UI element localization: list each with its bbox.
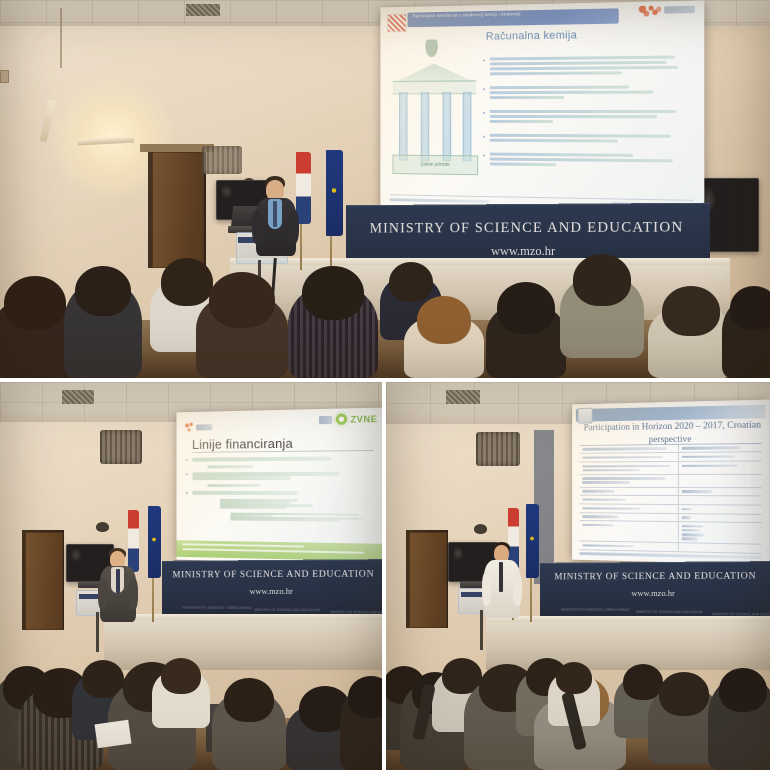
zvne-ring-icon	[335, 413, 347, 426]
slide-footer-bar	[176, 541, 382, 562]
slide-bullet	[192, 472, 373, 481]
presenter-arm	[288, 210, 299, 244]
slide-bullet	[483, 55, 681, 75]
collage-panel-top: Računalna simulacija u modernoj kemiji i…	[0, 0, 770, 378]
stage-platform	[104, 618, 382, 670]
stage-platform	[486, 620, 770, 670]
presenter-tie	[499, 562, 503, 592]
temple-diagram: Zakon prirode	[393, 38, 477, 183]
collage-panel-bottom-left: ZVNE Linije financiranja	[0, 382, 382, 770]
stage-edge	[104, 614, 382, 620]
mzo-wordmark-icon	[638, 3, 696, 19]
mzo-dots-icon	[638, 6, 661, 17]
lecture-hall-bottom-left: ZVNE Linije financiranja	[0, 382, 382, 770]
table-row	[580, 475, 762, 488]
temple-base: Zakon prirode	[393, 155, 479, 175]
mzo-dots-icon	[184, 422, 194, 433]
croatia-crest-icon	[578, 408, 593, 424]
slide-bullet-list	[192, 456, 373, 526]
ceiling-vent-icon	[446, 390, 480, 404]
monitor-glare	[452, 546, 464, 561]
dome-camera-icon	[96, 522, 109, 532]
slide-sub-bullet	[192, 484, 373, 487]
banner-small-left: MINISTARSTVO ZNANOSTI I OBRAZOVANJA	[183, 606, 252, 610]
projection-screen-frame: Računalna simulacija u modernoj kemiji i…	[380, 0, 704, 217]
eu-flag-icon	[526, 504, 539, 578]
ceiling-vent-icon	[186, 4, 220, 16]
temple-column	[442, 92, 451, 160]
presenter-tie	[273, 201, 277, 227]
banner-title: MINISTRY OF SCIENCE AND EDUCATION	[346, 219, 710, 237]
banner-url: www.mzo.hr	[346, 244, 710, 259]
monitor-glare	[220, 184, 233, 199]
door[interactable]	[25, 532, 63, 630]
presenter	[482, 542, 522, 634]
mzo-wordmark-bar	[664, 6, 694, 14]
photo-collage: Računalna simulacija u modernoj kemiji i…	[0, 0, 770, 770]
presenter	[98, 548, 138, 638]
stage-edge	[486, 616, 770, 622]
slide-bullet	[192, 491, 373, 495]
slide-sub-bullet	[192, 512, 373, 522]
floor	[386, 720, 770, 770]
slide-sub-bullet	[192, 499, 373, 510]
floor	[0, 320, 770, 378]
slide-footer-left	[389, 198, 488, 203]
projection-screen: Računalna simulacija u modernoj kemiji i…	[380, 0, 704, 217]
stage-edge	[230, 258, 730, 265]
projection-screen-frame: ZVNE Linije financiranja	[176, 408, 382, 565]
slide-bullet	[192, 456, 373, 461]
ceiling-vent-icon	[62, 390, 94, 404]
presenter-arm	[513, 572, 522, 606]
banner-small-center: MINISTRY OF SCIENCE AND EDUCATION	[636, 610, 702, 614]
wall-socket-icon	[0, 70, 9, 83]
slide-bullet	[483, 153, 681, 169]
slide-title: Linije financiranja	[192, 436, 293, 452]
door[interactable]	[409, 532, 447, 628]
temple-statue-icon	[422, 39, 440, 62]
ceiling-cable	[60, 8, 62, 68]
presenter-tie	[116, 569, 120, 593]
lecture-hall-top: Računalna simulacija u modernoj kemiji i…	[0, 0, 770, 378]
monitor-glare	[70, 548, 82, 562]
banner-title: MINISTRY OF SCIENCE AND EDUCATION	[162, 569, 382, 580]
presenter	[252, 176, 300, 268]
stage-platform	[230, 262, 730, 322]
door[interactable]	[152, 152, 204, 268]
banner-small-left: MINISTARSTVO ZNANOSTI I OBRAZOVANJA	[561, 608, 630, 612]
slide-header-bar	[576, 405, 766, 422]
temple-column	[399, 92, 407, 160]
presenter-arm	[482, 572, 491, 606]
zvne-logo: ZVNE	[319, 411, 377, 428]
slide-horizon-participation: Participation in Horizon 2020 – 2017, Cr…	[572, 400, 770, 565]
lecture-hall-bottom-right: Participation in Horizon 2020 – 2017, Cr…	[386, 382, 770, 770]
projection-screen-frame: Participation in Horizon 2020 – 2017, Cr…	[572, 400, 770, 565]
slide-bullet-list	[483, 55, 681, 179]
slide-table	[580, 443, 762, 550]
slide-racunalna-kemija: Računalna simulacija u modernoj kemiji i…	[380, 0, 704, 217]
temple-base-label: Zakon prirode	[420, 162, 449, 168]
fp7-mark-icon	[319, 416, 332, 424]
temple-column	[421, 92, 430, 160]
slide-bullet	[483, 110, 681, 124]
collage-panel-bottom-right: Participation in Horizon 2020 – 2017, Cr…	[386, 382, 770, 770]
temple-column	[463, 92, 472, 161]
slide-sub-bullet	[192, 464, 373, 468]
presenter-head	[266, 180, 284, 200]
table-row	[580, 461, 762, 475]
slide-ribbon: Računalna simulacija u modernoj kemiji i…	[408, 9, 619, 28]
presenter-arm	[129, 578, 138, 610]
banner-small-center: MINISTRY OF SCIENCE AND EDUCATION	[254, 608, 320, 612]
mzo-logo-icon	[386, 14, 406, 33]
dome-camera-icon	[474, 524, 487, 534]
projection-screen: Participation in Horizon 2020 – 2017, Cr…	[572, 400, 770, 565]
slide-ribbon-text: Računalna simulacija u modernoj kemiji i…	[408, 9, 619, 20]
projection-screen: ZVNE Linije financiranja	[176, 408, 382, 565]
banner-url: www.mzo.hr	[540, 588, 770, 598]
slide-bullet	[483, 134, 681, 143]
mzo-logo-icon	[184, 420, 212, 434]
air-conditioner-grill-icon	[476, 432, 520, 466]
eu-flag-icon	[148, 506, 161, 578]
floor	[0, 718, 382, 770]
slide-linije-financiranja: ZVNE Linije financiranja	[176, 408, 382, 565]
mzo-wordmark-bar	[196, 424, 212, 430]
slide-bullet	[483, 85, 681, 99]
banner-url: www.mzo.hr	[162, 586, 382, 596]
presenter-arm	[252, 210, 262, 244]
presenter-arm	[98, 578, 107, 610]
air-conditioner-grill-icon	[202, 146, 242, 174]
banner-title: MINISTRY OF SCIENCE AND EDUCATION	[540, 571, 770, 582]
zvne-wordmark: ZVNE	[350, 413, 377, 424]
air-conditioner-grill-icon	[100, 430, 142, 464]
temple-pediment	[394, 63, 474, 82]
slide-title: Računalna kemija	[486, 30, 577, 43]
eu-flag-icon	[326, 150, 343, 236]
